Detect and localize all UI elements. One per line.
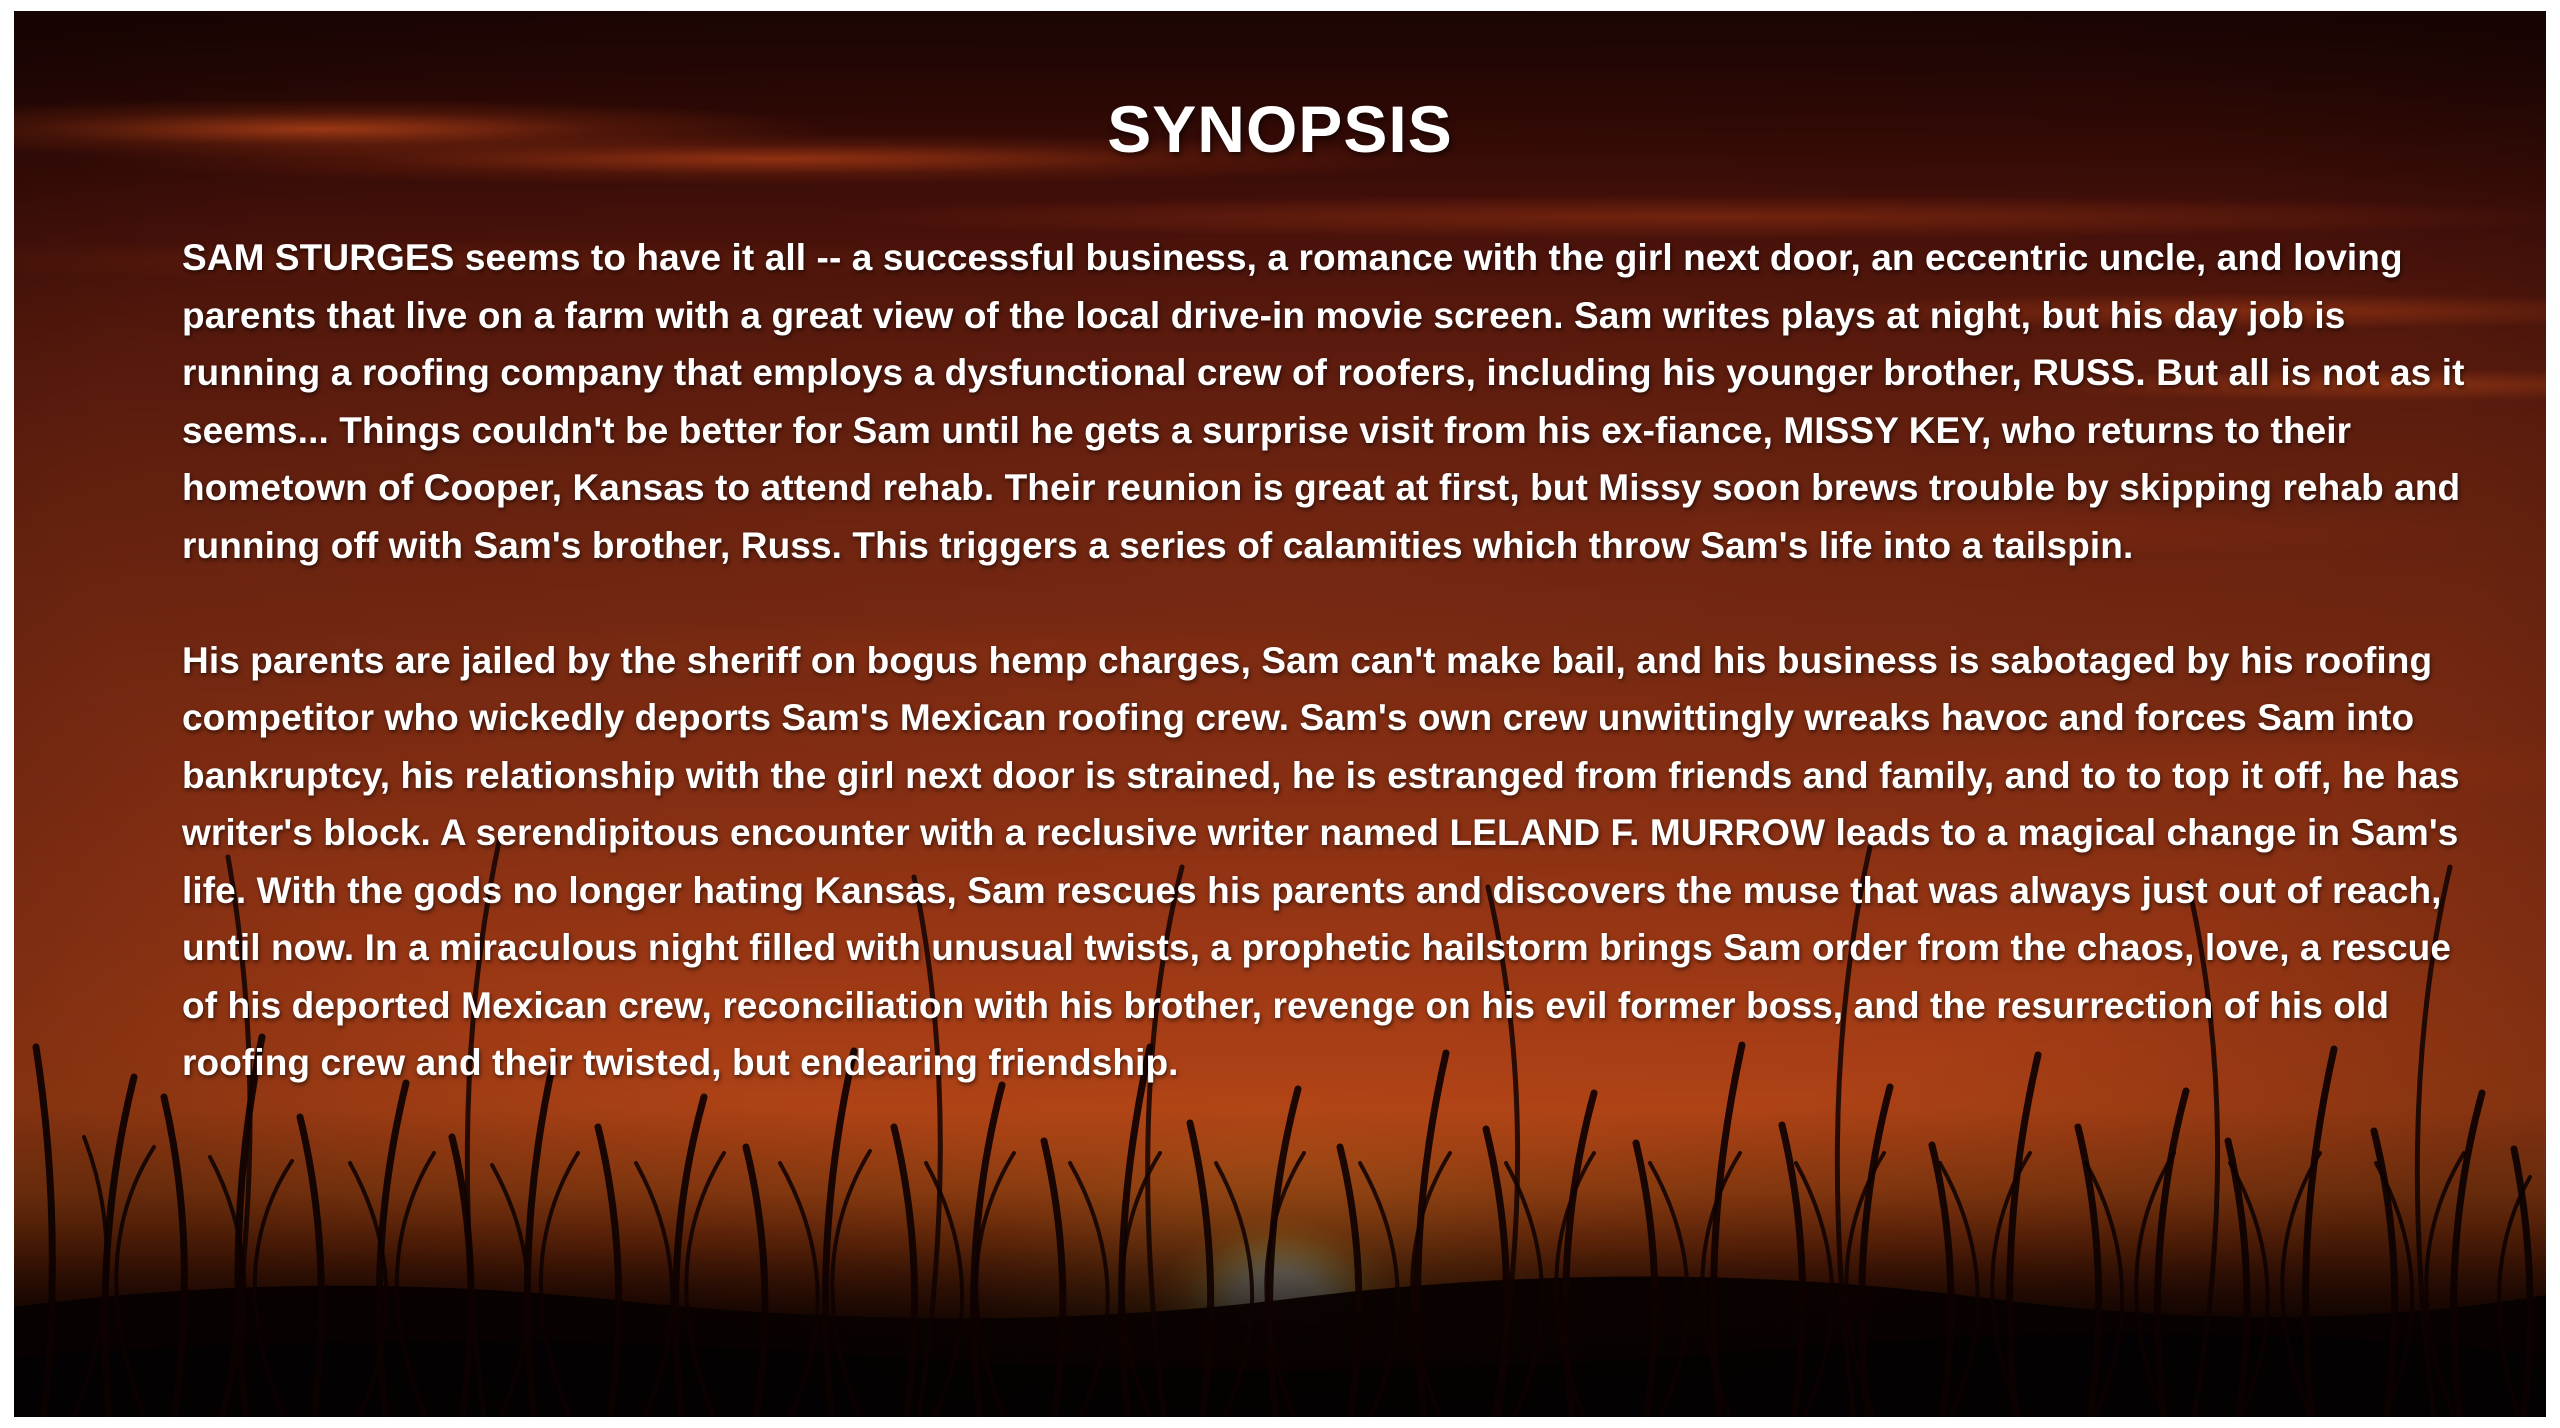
synopsis-paragraph-1: SAM STURGES seems to have it all -- a su… xyxy=(182,229,2482,574)
paragraph-spacer xyxy=(182,574,2482,632)
page-title: SYNOPSIS xyxy=(14,91,2546,167)
slide-content: SYNOPSIS SAM STURGES seems to have it al… xyxy=(14,11,2546,1417)
synopsis-paragraph-2: His parents are jailed by the sheriff on… xyxy=(182,632,2482,1092)
synopsis-slide: SYNOPSIS SAM STURGES seems to have it al… xyxy=(14,11,2546,1417)
synopsis-body: SAM STURGES seems to have it all -- a su… xyxy=(182,229,2482,1092)
